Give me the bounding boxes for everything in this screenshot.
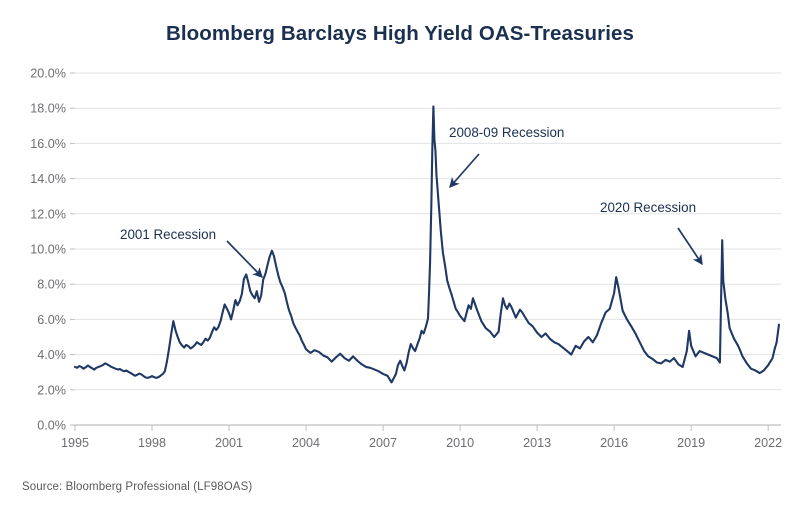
annotation-2020-recession-label: 2020 Recession <box>600 200 696 215</box>
x-tick-label: 2004 <box>292 436 320 450</box>
series-line <box>75 106 779 382</box>
x-tick-label: 2022 <box>754 436 782 450</box>
line-chart-plot: 0.0%2.0%4.0%6.0%8.0%10.0%12.0%14.0%16.0%… <box>0 0 800 511</box>
x-tick-label: 2016 <box>600 436 628 450</box>
annotation-2020-recession-arrow <box>678 228 702 264</box>
y-tick-label: 18.0% <box>30 102 66 116</box>
y-tick-label: 14.0% <box>30 172 66 186</box>
x-axis-tick-labels: 1995199820012004200720102013201620192022 <box>61 425 782 450</box>
y-tick-label: 2.0% <box>37 383 66 397</box>
source-note: Source: Bloomberg Professional (LF98OAS) <box>22 481 252 493</box>
annotation-2001-recession-arrow <box>227 241 262 277</box>
x-tick-label: 1995 <box>61 436 89 450</box>
y-tick-label: 8.0% <box>37 278 66 292</box>
annotation-2001-recession-label: 2001 Recession <box>120 227 216 242</box>
y-tick-label: 4.0% <box>37 348 66 362</box>
y-tick-label: 0.0% <box>37 419 66 433</box>
x-tick-label: 2007 <box>369 436 397 450</box>
annotation-2008-09-recession-label: 2008-09 Recession <box>449 125 564 140</box>
x-tick-label: 2019 <box>677 436 705 450</box>
annotation-2008-09-recession-arrow <box>450 154 479 187</box>
y-tick-label: 20.0% <box>30 67 66 81</box>
y-axis-tick-labels: 0.0%2.0%4.0%6.0%8.0%10.0%12.0%14.0%16.0%… <box>30 67 75 433</box>
y-tick-label: 12.0% <box>30 207 66 221</box>
chart-card: Bloomberg Barclays High Yield OAS-Treasu… <box>0 0 800 511</box>
y-tick-label: 6.0% <box>37 313 66 327</box>
y-tick-label: 16.0% <box>30 137 66 151</box>
x-tick-label: 2013 <box>523 436 551 450</box>
y-tick-label: 10.0% <box>30 243 66 257</box>
x-tick-label: 2010 <box>446 436 474 450</box>
x-tick-label: 1998 <box>138 436 166 450</box>
annotations: 2001 Recession2008-09 Recession2020 Rece… <box>120 125 702 277</box>
x-tick-label: 2001 <box>215 436 243 450</box>
data-series-line <box>75 106 779 382</box>
